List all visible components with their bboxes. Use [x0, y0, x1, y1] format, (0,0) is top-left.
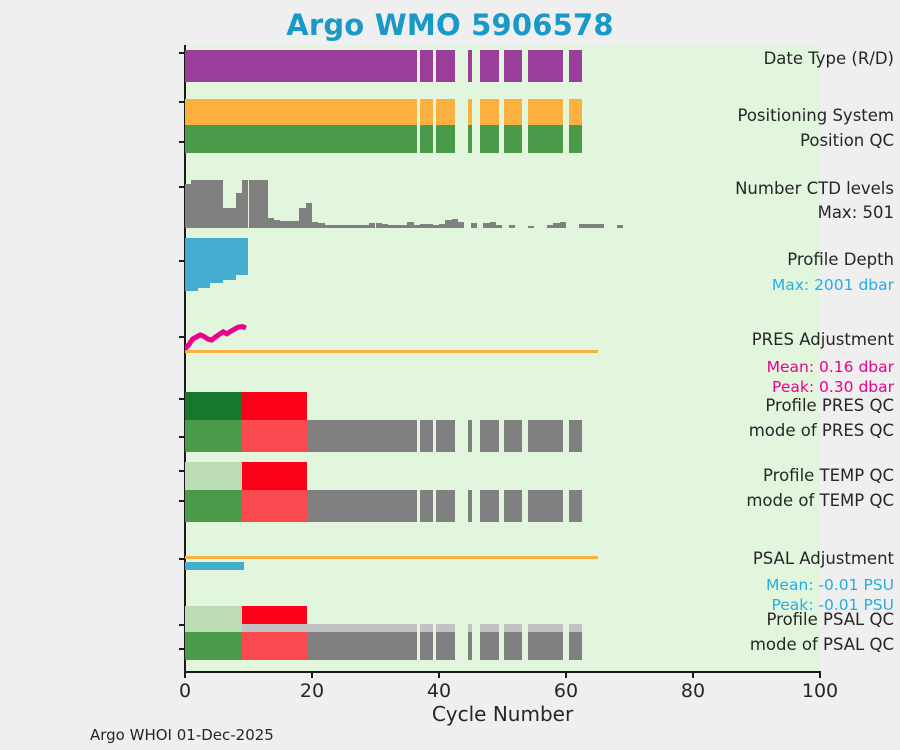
- footer-credit: Argo WHOI 01-Dec-2025: [90, 726, 274, 744]
- histogram-bar: [471, 223, 477, 228]
- x-tick: [311, 671, 313, 678]
- bar-segment: [468, 632, 472, 660]
- bar-segment: [420, 50, 433, 82]
- bar-segment: [242, 632, 307, 660]
- bar-segment: [528, 125, 563, 153]
- bar-segment: [569, 420, 582, 452]
- bar-segment: [242, 420, 307, 452]
- page-title: Argo WMO 5906578: [0, 8, 900, 42]
- bar-segment: [480, 125, 499, 153]
- bar-segment: [468, 50, 472, 82]
- row-number-ctd-levels: [185, 180, 820, 228]
- bar-segment: [504, 490, 522, 522]
- bar-segment: [436, 420, 455, 452]
- row-positioning-system: [185, 99, 820, 125]
- y-tick: [179, 141, 185, 143]
- bar-segment: [185, 392, 242, 420]
- bar-segment: [242, 490, 307, 522]
- y-tick: [179, 336, 185, 338]
- bar-segment: [436, 632, 455, 660]
- x-tick: [692, 671, 694, 678]
- x-tick-label: 60: [554, 680, 578, 702]
- y-tick: [179, 186, 185, 188]
- bar-segment: [480, 420, 499, 452]
- label-pres-mean: Mean: 0.16 dbar: [716, 358, 900, 376]
- psal-zero-reference-line: [185, 556, 598, 559]
- bar-segment: [307, 420, 417, 452]
- y-tick: [179, 436, 185, 438]
- x-axis: [184, 671, 821, 673]
- bar-segment: [185, 632, 242, 660]
- histogram-bar: [617, 225, 623, 228]
- x-tick-label: 0: [179, 680, 191, 702]
- bar-segment: [528, 490, 563, 522]
- bar-segment: [420, 125, 433, 153]
- bar-segment: [436, 99, 455, 125]
- row-mode-temp-qc: [185, 490, 820, 522]
- bar-segment: [504, 632, 522, 660]
- bar-segment: [468, 99, 472, 125]
- histogram-bar: [528, 226, 534, 228]
- y-tick: [179, 500, 185, 502]
- bar-segment: [569, 490, 582, 522]
- row-pres-adjustment: [185, 318, 820, 354]
- bar-segment: [436, 50, 455, 82]
- y-tick: [179, 648, 185, 650]
- bar-segment: [436, 125, 455, 153]
- row-profile-temp-qc: [185, 462, 820, 490]
- x-tick: [184, 671, 186, 678]
- bar-segment: [504, 420, 522, 452]
- row-mode-pres-qc: [185, 420, 820, 452]
- bar-segment: [480, 99, 499, 125]
- row-profile-depth: [185, 238, 820, 306]
- bar-segment: [504, 99, 522, 125]
- bar-segment: [480, 50, 499, 82]
- y-tick: [179, 52, 185, 54]
- bar-segment: [242, 462, 307, 490]
- bar-segment: [420, 99, 433, 125]
- label-psal-mean: Mean: -0.01 PSU: [716, 576, 900, 594]
- bar-segment: [468, 420, 472, 452]
- y-tick: [179, 558, 185, 560]
- bar-segment: [528, 99, 563, 125]
- bar-segment: [480, 490, 499, 522]
- row-date-type: [185, 50, 820, 82]
- y-tick: [179, 101, 185, 103]
- row-profile-pres-qc: [185, 392, 820, 420]
- bar-segment: [480, 632, 499, 660]
- bar-segment: [569, 125, 582, 153]
- x-tick-label: 40: [427, 680, 451, 702]
- bar-segment: [468, 125, 472, 153]
- bar-segment: [569, 632, 582, 660]
- bar-segment: [307, 632, 417, 660]
- y-tick: [179, 260, 185, 262]
- bar-segment: [420, 490, 433, 522]
- bar-segment: [420, 420, 433, 452]
- bar-segment: [242, 392, 307, 420]
- histogram-bar: [458, 222, 464, 228]
- histogram-bar: [560, 222, 566, 228]
- bar-segment: [185, 99, 417, 125]
- histogram-bar: [496, 225, 502, 228]
- bar-segment: [185, 490, 242, 522]
- bar-segment: [185, 125, 417, 153]
- bar-segment: [569, 50, 582, 82]
- bar-segment: [528, 632, 563, 660]
- histogram-bar: [509, 225, 515, 228]
- bar-segment: [504, 125, 522, 153]
- bar-segment: [436, 490, 455, 522]
- bar-segment: [528, 50, 563, 82]
- bar-segment: [420, 632, 433, 660]
- pres-adjustment-line: [185, 318, 820, 354]
- bar-segment: [468, 490, 472, 522]
- x-tick-label: 80: [681, 680, 705, 702]
- x-tick: [438, 671, 440, 678]
- psal-adjustment-line: [185, 562, 244, 570]
- y-tick: [179, 470, 185, 472]
- x-tick: [565, 671, 567, 678]
- bar-segment: [185, 462, 242, 490]
- depth-bar: [242, 238, 248, 275]
- x-tick: [819, 671, 821, 678]
- row-mode-psal-qc: [185, 632, 820, 660]
- x-tick-label: 100: [802, 680, 838, 702]
- bar-segment: [569, 99, 582, 125]
- row-position-qc: [185, 125, 820, 153]
- bar-segment: [185, 50, 417, 82]
- bar-segment: [185, 420, 242, 452]
- y-tick: [179, 398, 185, 400]
- x-axis-title: Cycle Number: [185, 702, 820, 726]
- histogram-bar: [598, 224, 604, 228]
- bar-segment: [504, 50, 522, 82]
- row-psal-adjustment: [185, 545, 820, 573]
- bar-segment: [528, 420, 563, 452]
- bar-segment: [307, 490, 417, 522]
- x-tick-label: 20: [300, 680, 324, 702]
